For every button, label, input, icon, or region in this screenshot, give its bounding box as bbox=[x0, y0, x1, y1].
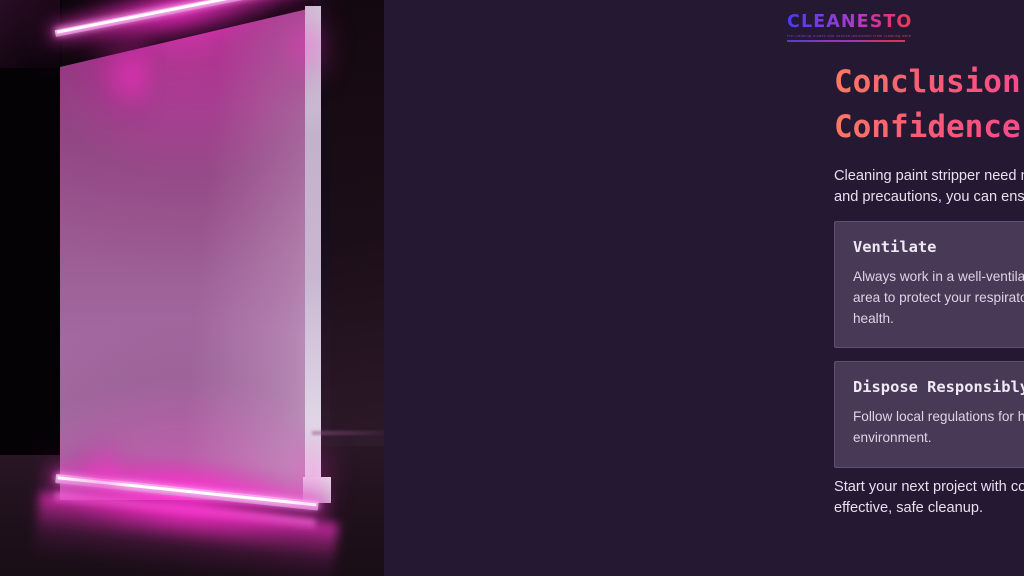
tips-card-row: Ventilate Always work in a well-ventilat… bbox=[834, 221, 1024, 348]
neon-room-photo bbox=[0, 0, 384, 576]
brand-logo[interactable]: CLEANESTOR Pro Cleaning Guides And Servi… bbox=[787, 14, 911, 42]
brand-tagline: Pro Cleaning Guides And Service Journali… bbox=[787, 35, 911, 39]
tip-card-ventilate: Ventilate Always work in a well-ventilat… bbox=[834, 221, 1024, 348]
outro-paragraph: Start your next project with confidence,… bbox=[834, 477, 1024, 518]
tip-card-body: Always work in a well-ventilated area to… bbox=[853, 267, 1024, 329]
tip-card-dispose-responsibly: Dispose Responsibly Follow local regulat… bbox=[834, 361, 1024, 468]
content-panel: CLEANESTOR Pro Cleaning Guides And Servi… bbox=[384, 0, 1024, 576]
tip-card-body: Follow local regulations for hazardous w… bbox=[853, 407, 1024, 448]
tip-card-title: Ventilate bbox=[853, 238, 1024, 256]
tip-card-title: Dispose Responsibly bbox=[853, 378, 1024, 396]
photo-glow-spill-bottom-left bbox=[8, 436, 118, 536]
brand-underline bbox=[787, 40, 905, 42]
brand-wordmark: CLEANESTOR bbox=[787, 14, 911, 32]
page-title: Conclusion: Clean Up with Confidence bbox=[834, 60, 1024, 150]
intro-paragraph: Cleaning paint stripper need not be daun… bbox=[834, 166, 1024, 207]
photo-glow-spill-bottom-right bbox=[296, 430, 384, 540]
slide: CLEANESTOR Pro Cleaning Guides And Servi… bbox=[0, 0, 1024, 576]
